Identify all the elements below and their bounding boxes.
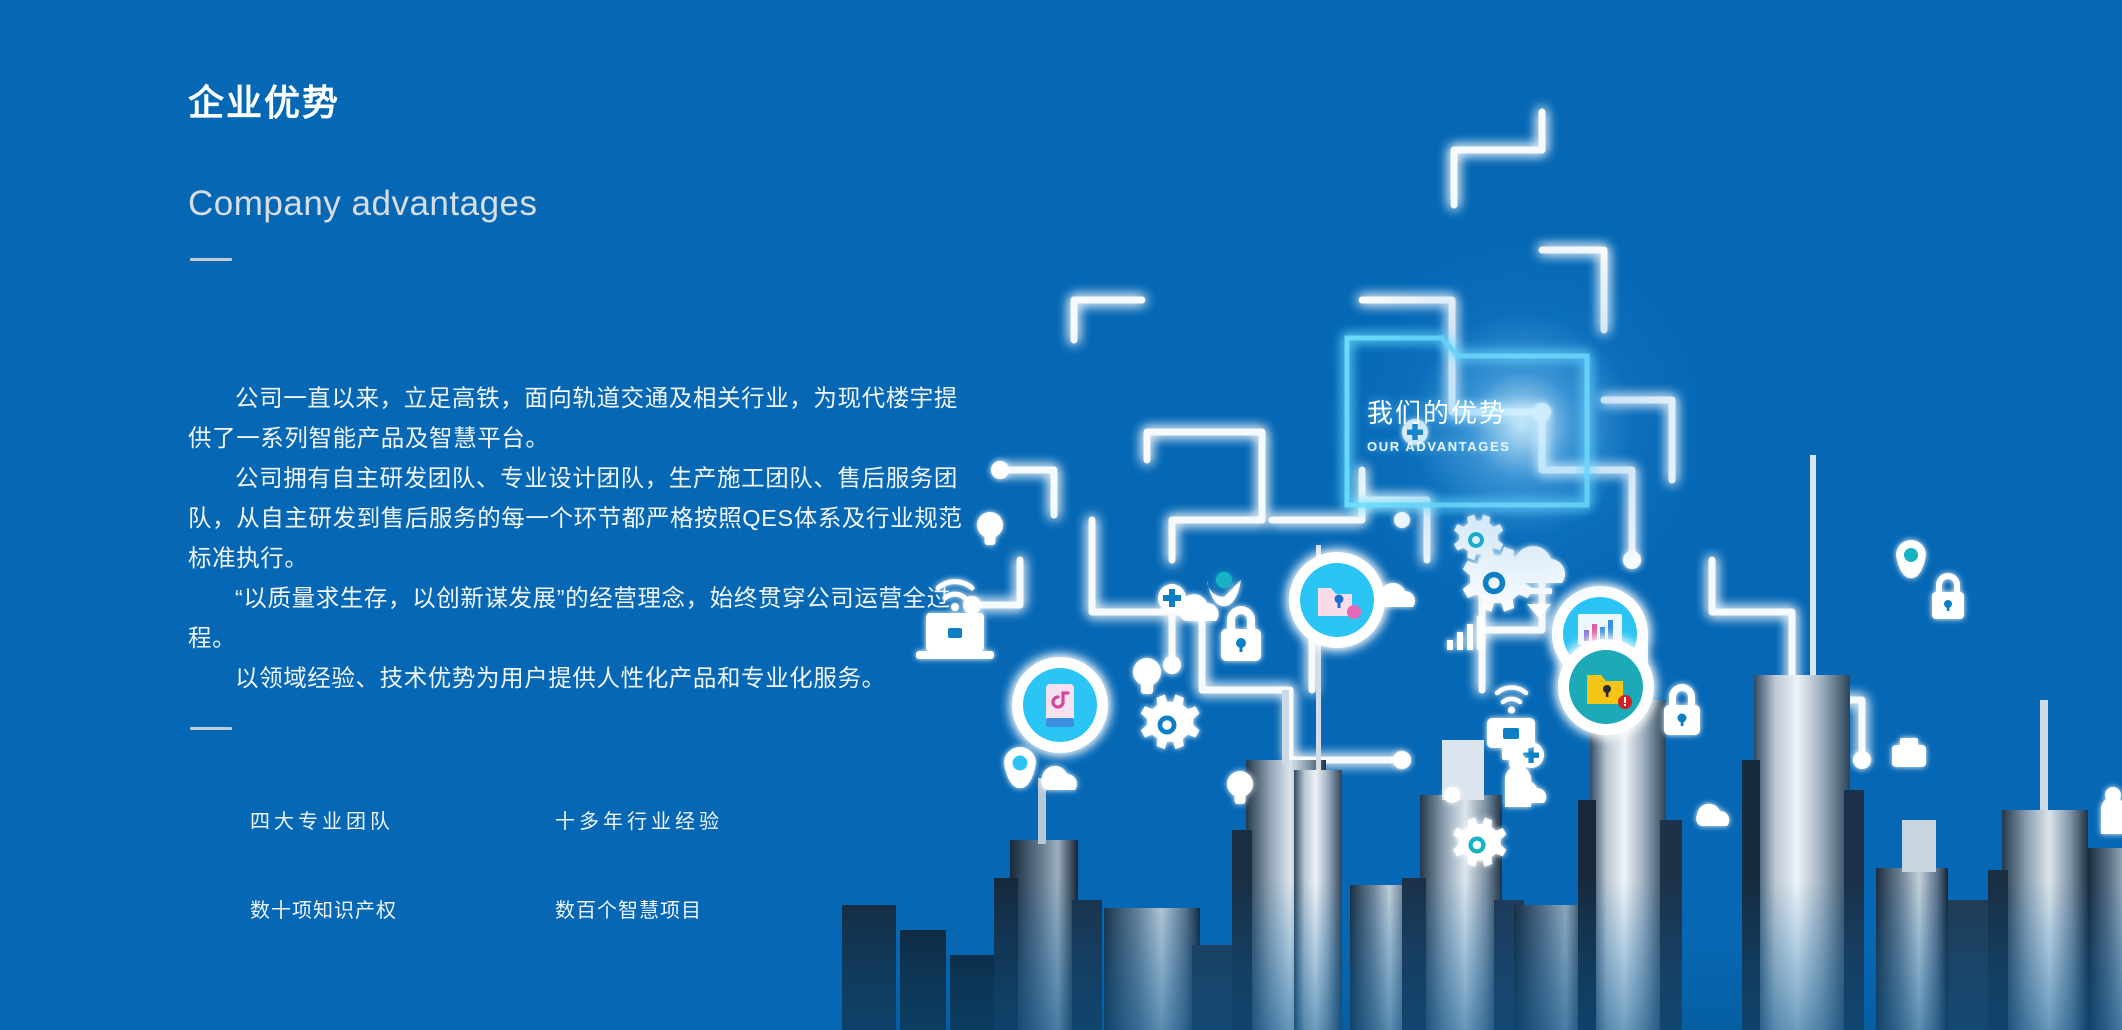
chart-presentation-icon xyxy=(1552,586,1648,682)
stat-item: 数百个智慧项目 xyxy=(555,894,860,923)
body-paragraph: 公司一直以来，立足高铁，面向轨道交通及相关行业，为现代楼宇提供了一系列智能产品及… xyxy=(188,378,978,458)
stat-item: 四大专业团队 xyxy=(250,805,555,834)
plus-node-icon xyxy=(1518,742,1544,768)
stats-row: 四大专业团队十多年行业经验 xyxy=(250,805,890,834)
gear-icon xyxy=(1453,817,1506,866)
wifi-icon xyxy=(1497,688,1526,714)
plus-node-icon xyxy=(1402,419,1428,445)
cloud-icon xyxy=(1513,781,1546,803)
lock-icon xyxy=(1221,606,1261,661)
signal-bars-icon xyxy=(1447,616,1483,650)
printer-icon xyxy=(1487,718,1535,760)
stats-divider xyxy=(190,727,232,730)
content-column: 企业优势 Company advantages 公司一直以来，立足高铁，面向轨道… xyxy=(188,0,1008,1030)
stats-grid: 四大专业团队十多年行业经验数十项知识产权数百个智慧项目 xyxy=(250,805,890,923)
lightbulb-icon xyxy=(1133,658,1161,694)
body-copy: 公司一直以来，立足高铁，面向轨道交通及相关行业，为现代楼宇提供了一系列智能产品及… xyxy=(188,378,978,698)
gear-icon xyxy=(1141,695,1200,750)
lightbulb-icon xyxy=(1227,771,1253,804)
smart-city-graphic: 我们的优势 OUR ADVANTAGES xyxy=(842,0,2122,1030)
body-paragraph: 以领域经验、技术优势为用户提供人性化产品和专业化服务。 xyxy=(188,658,978,698)
connector-nodes xyxy=(963,403,1871,769)
location-pin-icon xyxy=(1207,563,1241,606)
lock-icon xyxy=(1664,684,1700,735)
gear-icon xyxy=(1454,514,1503,560)
cloud-icon xyxy=(1696,804,1729,826)
body-paragraph: “以质量求生存，以创新谋发展”的经营理念，始终贯穿公司运营全过程。 xyxy=(188,578,978,658)
page-title-en: Company advantages xyxy=(188,185,538,224)
body-paragraph: 公司拥有自主研发团队、专业设计团队，生产施工团队、售后服务团队，从自主研发到售后… xyxy=(188,458,978,578)
title-divider xyxy=(190,258,232,261)
stat-item: 数十项知识产权 xyxy=(250,894,555,923)
connector-nodes xyxy=(1394,512,1460,803)
card-text-block: 我们的优势 OUR ADVANTAGES xyxy=(1367,393,1597,454)
secure-folder-icon xyxy=(1289,552,1385,648)
teal-folder-lock-icon xyxy=(1558,639,1654,735)
plus-node-icon xyxy=(1158,584,1186,612)
cloud-icon xyxy=(1041,766,1077,790)
location-pin-icon xyxy=(1896,540,1926,578)
our-advantages-card xyxy=(1347,338,1587,505)
cloud-icon xyxy=(1179,594,1218,621)
page-title-cn: 企业优势 xyxy=(188,83,340,123)
connector-lines xyxy=(972,112,1862,760)
mobile-phone-icon xyxy=(1012,657,1108,753)
lock-icon xyxy=(1932,573,1964,619)
card-title-cn: 我们的优势 xyxy=(1367,393,1597,430)
cloud-icon xyxy=(1379,583,1415,607)
card-title-en: OUR ADVANTAGES xyxy=(1367,439,1597,454)
graphic-svg xyxy=(842,0,2122,1030)
stats-row: 数十项知识产权数百个智慧项目 xyxy=(250,894,890,923)
cloud-upload-icon xyxy=(1512,546,1565,618)
gear-icon xyxy=(1463,547,1533,612)
stat-item: 十多年行业经验 xyxy=(555,805,860,834)
printer-icon xyxy=(1892,738,1926,767)
person-icon xyxy=(2101,787,2122,834)
city-skyline xyxy=(842,455,2122,1030)
card-glow xyxy=(1312,215,1732,635)
page-root: 我们的优势 OUR ADVANTAGES 企业优势 Company advant… xyxy=(0,0,2122,1030)
person-icon xyxy=(1505,754,1531,807)
location-pin-icon xyxy=(1004,747,1036,788)
